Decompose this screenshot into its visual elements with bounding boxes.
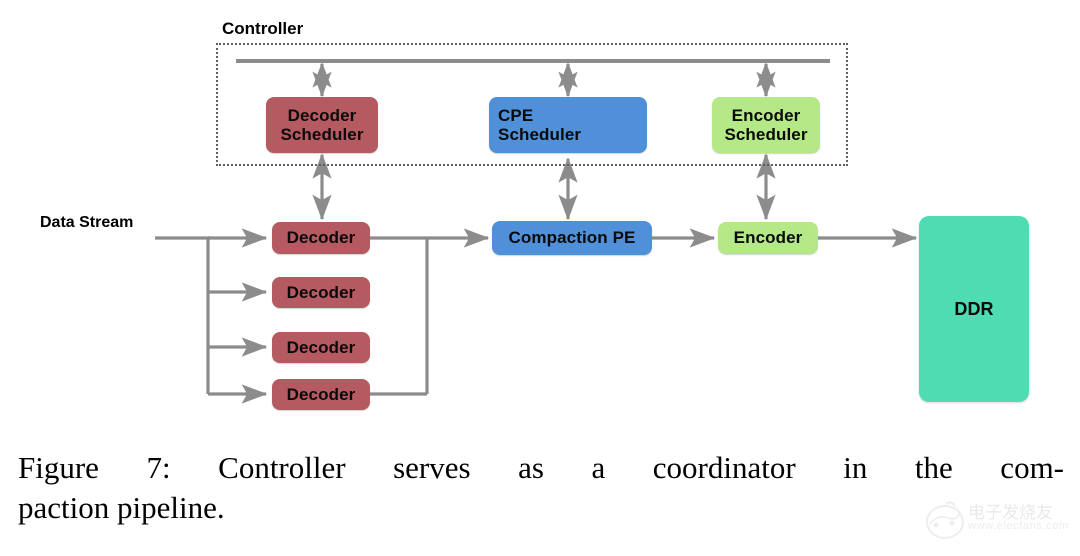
decoder-label-2: Decoder [287, 283, 356, 302]
compaction-pe-box[interactable]: Compaction PE [492, 221, 652, 255]
encoder-label: Encoder [734, 228, 803, 247]
compaction-pe-label: Compaction PE [509, 228, 636, 247]
decoder-scheduler-line2: Scheduler [275, 125, 369, 144]
cpe-scheduler-box[interactable]: CPE Scheduler [489, 97, 647, 153]
ddr-box[interactable]: DDR [919, 216, 1029, 402]
decoder-box-4[interactable]: Decoder [272, 379, 370, 410]
decoder-scheduler-line1: Decoder [275, 106, 369, 125]
cpe-scheduler-line2: Scheduler [498, 125, 638, 144]
caption-line-2: paction pipeline. [18, 488, 1064, 528]
figure-caption: Figure 7: Controller serves as a coordin… [18, 448, 1064, 527]
decoder-box-2[interactable]: Decoder [272, 277, 370, 308]
decoder-box-3[interactable]: Decoder [272, 332, 370, 363]
decoder-box-1[interactable]: Decoder [272, 222, 370, 254]
encoder-scheduler-box[interactable]: Encoder Scheduler [712, 97, 820, 153]
controller-label: Controller [222, 19, 303, 39]
decoder-label-3: Decoder [287, 338, 356, 357]
encoder-scheduler-line2: Scheduler [721, 125, 811, 144]
ddr-label: DDR [954, 299, 993, 319]
decoder-label-4: Decoder [287, 385, 356, 404]
encoder-scheduler-line1: Encoder [721, 106, 811, 125]
decoder-label-1: Decoder [287, 228, 356, 247]
data-stream-label: Data Stream [40, 214, 133, 232]
encoder-box[interactable]: Encoder [718, 222, 818, 254]
caption-line-1: Figure 7: Controller serves as a coordin… [18, 448, 1064, 488]
cpe-scheduler-line1: CPE [498, 106, 638, 125]
decoder-scheduler-box[interactable]: Decoder Scheduler [266, 97, 378, 153]
